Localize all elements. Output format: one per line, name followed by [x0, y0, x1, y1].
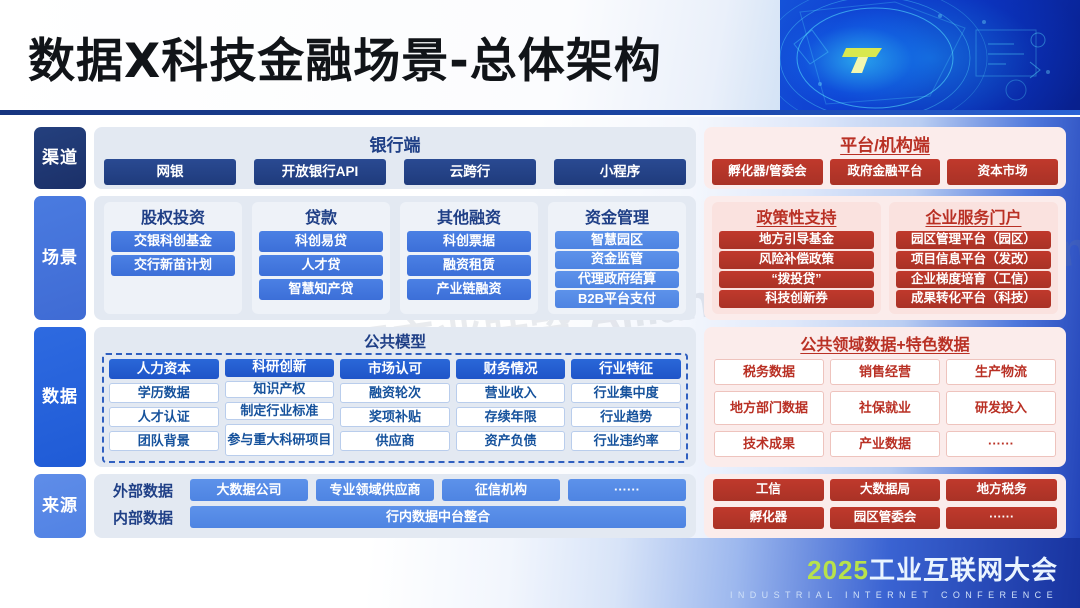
conference-name-en: INDUSTRIAL INTERNET CONFERENCE — [730, 590, 1058, 600]
scenario-item[interactable]: 科创易贷 — [259, 231, 383, 252]
data-item[interactable]: 知识产权 — [225, 381, 335, 399]
channel-platform-chips: 孵化器/管委会 政府金融平台 资本市场 — [712, 159, 1058, 185]
channel-platform-title: 平台/机构端 — [712, 131, 1058, 156]
source-internal-label: 内部数据 — [104, 507, 182, 528]
channel-chip[interactable]: 云跨行 — [404, 159, 536, 185]
data-column-header[interactable]: 财务情况 — [456, 359, 566, 379]
public-domain-item[interactable]: 产业数据 — [830, 431, 940, 457]
data-item[interactable]: 融资轮次 — [340, 383, 450, 403]
row-channel: 渠道 银行端 网银 开放银行API 云跨行 小程序 平台/机构端 孵化器/管委会… — [34, 127, 1066, 189]
scenario-item[interactable]: 融资租赁 — [407, 255, 531, 276]
scenario-right-panel: 政策性支持 地方引导基金 风险补偿政策 “拨投贷” 科技创新券 企业服务门户 园… — [704, 196, 1066, 320]
tech-graphic — [780, 0, 1080, 115]
row-label-channel-text: 渠道 — [42, 148, 78, 167]
row-label-channel: 渠道 — [34, 127, 86, 189]
row-scenario: 场景 股权投资 交银科创基金 交行新苗计划 贷款 科创易贷 人才贷 智慧知产贷 … — [34, 196, 1066, 320]
platform-chip[interactable]: 孵化器/管委会 — [712, 159, 823, 185]
data-item[interactable]: 人才认证 — [109, 407, 219, 427]
source-agency-item[interactable]: 园区管委会 — [830, 507, 941, 529]
data-item[interactable]: 资产负债 — [456, 431, 566, 451]
data-public-model-panel: 公共模型 人力资本 学历数据 人才认证 团队背景 科研创新 知识产权 制定行业标… — [94, 327, 696, 467]
row-label-source-text: 来源 — [42, 496, 78, 515]
source-external-label: 外部数据 — [104, 480, 182, 501]
source-agency-item[interactable]: ······ — [946, 507, 1057, 529]
scenario-item[interactable]: 科创票据 — [407, 231, 531, 252]
data-column-financials: 财务情况 营业收入 存续年限 资产负债 — [456, 359, 566, 456]
source-item[interactable]: 专业领域供应商 — [316, 479, 434, 501]
channel-platform-panel: 平台/机构端 孵化器/管委会 政府金融平台 资本市场 — [704, 127, 1066, 189]
data-column-header[interactable]: 市场认可 — [340, 359, 450, 379]
source-right-grid: 工信 大数据局 地方税务 孵化器 园区管委会 ······ — [713, 479, 1057, 529]
data-item[interactable]: 学历数据 — [109, 383, 219, 403]
public-domain-item[interactable]: 研发投入 — [946, 391, 1056, 425]
scenario-column-title: 其他融资 — [407, 204, 531, 228]
page-header: 数据X科技金融场景-总体架构 — [0, 0, 1080, 115]
channel-chip[interactable]: 小程序 — [554, 159, 686, 185]
scenario-item[interactable]: 交行新苗计划 — [111, 255, 235, 276]
row-data: 数据 公共模型 人力资本 学历数据 人才认证 团队背景 科研创新 知识产权 制定… — [34, 327, 1066, 467]
data-column-industry-traits: 行业特征 行业集中度 行业趋势 行业违约率 — [571, 359, 681, 456]
data-item[interactable]: 制定行业标准 — [225, 402, 335, 420]
page-footer: 2025工业互联网大会 INDUSTRIAL INTERNET CONFEREN… — [0, 538, 1080, 608]
scenario-item[interactable]: 产业链融资 — [407, 279, 531, 300]
channel-bank-chips: 网银 开放银行API 云跨行 小程序 — [104, 159, 686, 185]
scenario-column-title: 股权投资 — [111, 204, 235, 228]
page-title: 数据X科技金融场景-总体架构 — [28, 22, 662, 91]
scenario-column-fund-management: 资金管理 智慧园区 资金监管 代理政府结算 B2B平台支付 — [548, 202, 686, 314]
public-domain-item[interactable]: 税务数据 — [714, 359, 824, 385]
scenario-column-title: 资金管理 — [555, 204, 679, 228]
public-domain-item[interactable]: 技术成果 — [714, 431, 824, 457]
source-external-line: 外部数据 大数据公司 专业领域供应商 征信机构 ······ — [104, 479, 686, 501]
source-agency-item[interactable]: 孵化器 — [713, 507, 824, 529]
public-domain-grid: 税务数据 销售经营 生产物流 地方部门数据 社保就业 研发投入 技术成果 产业数… — [714, 359, 1056, 457]
row-label-data-text: 数据 — [42, 387, 78, 406]
architecture-diagram: 工业互联网产业联盟 Alliance of Industrial Interne… — [0, 117, 1080, 608]
diagram-grid: 渠道 银行端 网银 开放银行API 云跨行 小程序 平台/机构端 孵化器/管委会… — [0, 117, 1080, 537]
t-logo-icon — [842, 44, 886, 76]
scenario-column-other-financing: 其他融资 科创票据 融资租赁 产业链融资 — [400, 202, 538, 314]
data-item[interactable]: 参与重大科研项目 — [225, 424, 335, 456]
scenario-item[interactable]: 成果转化平台（科技） — [896, 290, 1051, 308]
scenario-item[interactable]: 智慧知产贷 — [259, 279, 383, 300]
source-item[interactable]: 大数据公司 — [190, 479, 308, 501]
platform-chip[interactable]: 政府金融平台 — [830, 159, 941, 185]
scenario-item[interactable]: “拨投贷” — [719, 271, 874, 289]
channel-chip[interactable]: 开放银行API — [254, 159, 386, 185]
scenario-item[interactable]: 项目信息平台（发改） — [896, 251, 1051, 269]
public-domain-item[interactable]: 社保就业 — [830, 391, 940, 425]
data-item[interactable]: 团队背景 — [109, 431, 219, 451]
scenario-column-title: 政策性支持 — [719, 204, 874, 228]
scenario-column-enterprise-portal: 企业服务门户 园区管理平台（园区） 项目信息平台（发改） 企业梯度培育（工信） … — [889, 202, 1058, 314]
scenario-column-loan: 贷款 科创易贷 人才贷 智慧知产贷 — [252, 202, 390, 314]
scenario-column-title: 贷款 — [259, 204, 383, 228]
public-domain-title: 公共领域数据+特色数据 — [714, 331, 1056, 355]
scenario-item[interactable]: 代理政府结算 — [555, 271, 679, 289]
data-column-research-innovation: 科研创新 知识产权 制定行业标准 参与重大科研项目 — [225, 359, 335, 456]
source-right-panel: 工信 大数据局 地方税务 孵化器 园区管委会 ······ — [704, 474, 1066, 538]
data-item[interactable]: 奖项补贴 — [340, 407, 450, 427]
public-domain-item[interactable]: 生产物流 — [946, 359, 1056, 385]
platform-chip[interactable]: 资本市场 — [947, 159, 1058, 185]
scenario-item[interactable]: 地方引导基金 — [719, 231, 874, 249]
scenario-item[interactable]: 交银科创基金 — [111, 231, 235, 252]
scenario-column-equity: 股权投资 交银科创基金 交行新苗计划 — [104, 202, 242, 314]
source-external-chips: 大数据公司 专业领域供应商 征信机构 ······ — [190, 479, 686, 501]
channel-bank-title: 银行端 — [104, 131, 686, 156]
public-domain-item[interactable]: ······ — [946, 431, 1056, 457]
conference-logo-main: 2025工业互联网大会 — [730, 550, 1058, 587]
conference-logo: 2025工业互联网大会 INDUSTRIAL INTERNET CONFEREN… — [730, 550, 1058, 600]
public-model-title: 公共模型 — [102, 330, 688, 352]
source-internal-line: 内部数据 行内数据中台整合 — [104, 506, 686, 528]
scenario-item[interactable]: 风险补偿政策 — [719, 251, 874, 269]
row-source: 来源 外部数据 大数据公司 专业领域供应商 征信机构 ······ 内部数据 行… — [34, 474, 1066, 538]
scenario-item[interactable]: 园区管理平台（园区） — [896, 231, 1051, 249]
source-item[interactable]: ······ — [568, 479, 686, 501]
row-label-scenario: 场景 — [34, 196, 86, 320]
channel-chip[interactable]: 网银 — [104, 159, 236, 185]
public-domain-item[interactable]: 销售经营 — [830, 359, 940, 385]
data-column-header[interactable]: 行业特征 — [571, 359, 681, 379]
conference-name-cn: 工业互联网大会 — [869, 555, 1058, 585]
scenario-column-policy: 政策性支持 地方引导基金 风险补偿政策 “拨投贷” 科技创新券 — [712, 202, 881, 314]
data-item[interactable]: 存续年限 — [456, 407, 566, 427]
source-item[interactable]: 征信机构 — [442, 479, 560, 501]
source-agency-item[interactable]: 工信 — [713, 479, 824, 501]
source-left-panel: 外部数据 大数据公司 专业领域供应商 征信机构 ······ 内部数据 行内数据… — [94, 474, 696, 538]
scenario-item[interactable]: B2B平台支付 — [555, 290, 679, 308]
scenario-item[interactable]: 智慧园区 — [555, 231, 679, 249]
data-column-header[interactable]: 科研创新 — [225, 359, 335, 377]
data-column-human-capital: 人力资本 学历数据 人才认证 团队背景 — [109, 359, 219, 456]
scenario-item[interactable]: 企业梯度培育（工信） — [896, 271, 1051, 289]
data-item[interactable]: 行业违约率 — [571, 431, 681, 451]
header-underline — [0, 110, 1080, 115]
source-item[interactable]: 行内数据中台整合 — [190, 506, 686, 528]
source-agency-item[interactable]: 地方税务 — [946, 479, 1057, 501]
data-column-header[interactable]: 人力资本 — [109, 359, 219, 379]
source-agency-item[interactable]: 大数据局 — [830, 479, 941, 501]
row-label-data: 数据 — [34, 327, 86, 467]
conference-year: 2025 — [807, 555, 869, 585]
scenario-column-title: 企业服务门户 — [896, 204, 1051, 228]
scenario-left-panel: 股权投资 交银科创基金 交行新苗计划 贷款 科创易贷 人才贷 智慧知产贷 其他融… — [94, 196, 696, 320]
channel-bank-panel: 银行端 网银 开放银行API 云跨行 小程序 — [94, 127, 696, 189]
data-item[interactable]: 供应商 — [340, 431, 450, 451]
data-item[interactable]: 行业集中度 — [571, 383, 681, 403]
circuit-arcs-icon — [780, 0, 1080, 115]
data-item[interactable]: 营业收入 — [456, 383, 566, 403]
data-item[interactable]: 行业趋势 — [571, 407, 681, 427]
public-domain-item[interactable]: 地方部门数据 — [714, 391, 824, 425]
scenario-item[interactable]: 人才贷 — [259, 255, 383, 276]
public-model-dashed-box: 人力资本 学历数据 人才认证 团队背景 科研创新 知识产权 制定行业标准 参与重… — [102, 353, 688, 463]
scenario-item[interactable]: 科技创新券 — [719, 290, 874, 308]
row-label-source: 来源 — [34, 474, 86, 538]
scenario-item[interactable]: 资金监管 — [555, 251, 679, 269]
data-column-market-recognition: 市场认可 融资轮次 奖项补贴 供应商 — [340, 359, 450, 456]
row-label-scenario-text: 场景 — [42, 248, 78, 267]
data-public-domain-panel: 公共领域数据+特色数据 税务数据 销售经营 生产物流 地方部门数据 社保就业 研… — [704, 327, 1066, 467]
